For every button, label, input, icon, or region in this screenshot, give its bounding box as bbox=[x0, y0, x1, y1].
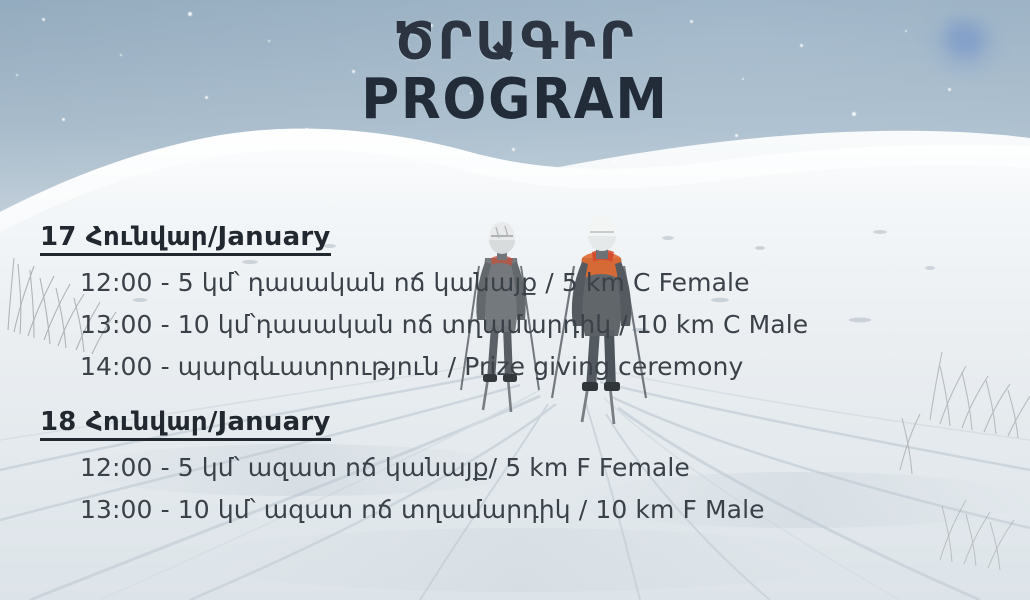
day-block-2: 18 Հունվար/January 12:00 - 5 կմ՝ ազատ ոճ… bbox=[40, 407, 1000, 524]
event-item: 14:00 - պարգևատրություն / Prize giving c… bbox=[80, 352, 1000, 381]
day-heading-1: 17 Հունվար/January bbox=[40, 222, 331, 256]
title-armenian: ԾՐԱԳԻՐ bbox=[0, 16, 1030, 68]
event-item: 13:00 - 10 կմ՝ ազատ ոճ տղամարդիկ / 10 km… bbox=[80, 495, 1000, 524]
day-block-1: 17 Հունվար/January 12:00 - 5 կմ՝ դասական… bbox=[40, 222, 1000, 381]
event-list-2: 12:00 - 5 կմ՝ ազատ ոճ կանայք/ 5 km F Fem… bbox=[40, 453, 1000, 524]
event-item: 12:00 - 5 կմ՝ ազատ ոճ կանայք/ 5 km F Fem… bbox=[80, 453, 1000, 482]
poster-title: ԾՐԱԳԻՐ PROGRAM bbox=[0, 16, 1030, 128]
program-schedule: 17 Հունվար/January 12:00 - 5 կմ՝ դասական… bbox=[40, 222, 1000, 537]
day-heading-2: 18 Հունվար/January bbox=[40, 407, 331, 441]
title-english: PROGRAM bbox=[41, 72, 989, 128]
event-list-1: 12:00 - 5 կմ՝ դասական ոճ կանայք / 5 km C… bbox=[40, 268, 1000, 381]
program-poster: ԾՐԱԳԻՐ PROGRAM 17 Հունվար/January 12:00 … bbox=[0, 0, 1030, 600]
event-item: 12:00 - 5 կմ՝ դասական ոճ կանայք / 5 km C… bbox=[80, 268, 1000, 297]
event-item: 13:00 - 10 կմ՝դասական ոճ տղամարդիկ / 10 … bbox=[80, 310, 1000, 339]
